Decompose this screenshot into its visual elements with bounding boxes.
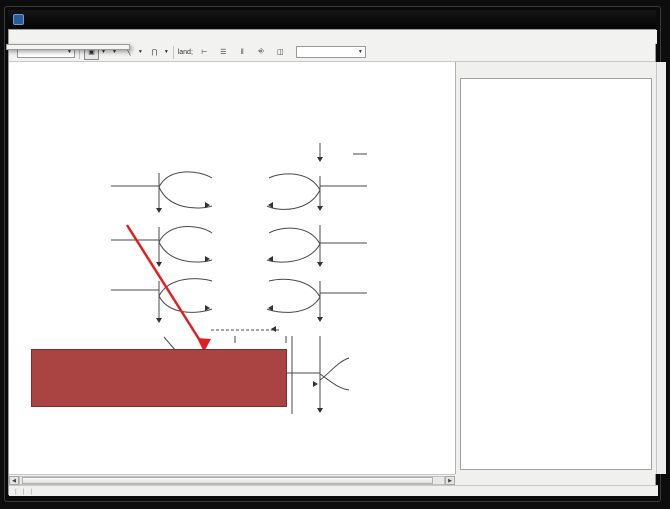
status-bar: | | |: [9, 485, 658, 496]
toolbar-separator: [173, 46, 174, 59]
align-left-icon[interactable]: ⊢: [197, 45, 212, 60]
title-bar: [8, 10, 656, 28]
annotation-callout: [31, 349, 287, 407]
scroll-thumb[interactable]: [22, 477, 433, 484]
anchor-tool-icon[interactable]: land;: [178, 45, 193, 60]
scroll-left-button[interactable]: ◀: [9, 476, 19, 485]
chevron-down-icon[interactable]: ▼: [138, 49, 143, 55]
plugin-icon[interactable]: ◫: [273, 45, 288, 60]
backpage-panel: [460, 78, 652, 470]
side-panel: [456, 62, 656, 474]
application-window: ▼ ▣ ▼ ▼ ╲ ▼ ⋂ ▼ land; ⊢ ☰ ‖ ⎆ ◫ ▼: [0, 0, 670, 509]
pathvisio-icon: [13, 14, 24, 25]
scroll-track[interactable]: [19, 476, 445, 485]
scroll-right-button[interactable]: ▶: [445, 476, 455, 485]
pathway-canvas[interactable]: [9, 62, 456, 474]
side-panel-tabs: [460, 64, 656, 78]
group-icon[interactable]: ⎆: [254, 45, 269, 60]
vertical-scrollbar[interactable]: [656, 62, 666, 474]
menu-bar: [9, 30, 657, 44]
interaction-tool-icon[interactable]: ⋂: [147, 45, 162, 60]
visualization-combo[interactable]: ▼: [296, 46, 366, 58]
distribute-icon[interactable]: ‖: [235, 45, 250, 60]
annotation-arrow: [9, 62, 455, 474]
client-area: ▼ ▣ ▼ ▼ ╲ ▼ ⋂ ▼ land; ⊢ ☰ ‖ ⎆ ◫ ▼: [8, 29, 656, 495]
stack-icon[interactable]: ☰: [216, 45, 231, 60]
file-menu-dropdown[interactable]: [6, 44, 130, 50]
chevron-down-icon[interactable]: ▼: [164, 49, 169, 55]
chevron-down-icon: ▼: [358, 49, 363, 55]
